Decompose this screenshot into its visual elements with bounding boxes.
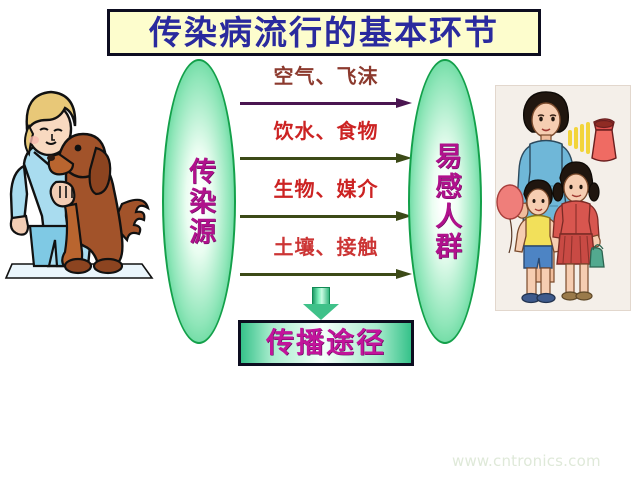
transmission-route-row-0[interactable]: 空气、飞沫 xyxy=(238,68,414,120)
slide-title-text: 传染病流行的基本环节 xyxy=(149,16,499,49)
transmission-route-label-3: 土壤、接触 xyxy=(238,236,414,258)
handbag-icon xyxy=(590,248,604,267)
node-population-label: 易感人群 xyxy=(431,142,460,262)
node-susceptible-population[interactable]: 易感人群 xyxy=(408,59,482,344)
illustration-nurse-and-dog xyxy=(4,86,154,282)
transmission-route-row-1[interactable]: 饮水、食物 xyxy=(238,123,414,175)
family-svg xyxy=(496,86,630,310)
balloon-icon xyxy=(497,185,523,219)
node-route-label: 传播途径 xyxy=(266,329,386,357)
transmission-route-row-2[interactable]: 生物、媒介 xyxy=(238,181,414,233)
transmission-route-label-2: 生物、媒介 xyxy=(238,178,414,200)
slide-canvas: 传染病流行的基本环节 xyxy=(0,0,640,480)
transmission-route-label-1: 饮水、食物 xyxy=(238,120,414,142)
node-transmission-route[interactable]: 传播途径 xyxy=(238,320,414,366)
transmission-route-row-3[interactable]: 土壤、接触 xyxy=(238,239,414,291)
node-source-label: 传染源 xyxy=(185,157,214,247)
transmission-arrow-1 xyxy=(240,153,414,163)
nurse-dog-svg xyxy=(4,86,154,282)
transmission-arrow-2 xyxy=(240,211,414,221)
transmission-arrow-3 xyxy=(240,269,414,279)
slide-title-box: 传染病流行的基本环节 xyxy=(107,9,541,56)
node-source-of-infection[interactable]: 传染源 xyxy=(162,59,236,344)
transmission-route-label-0: 空气、飞沫 xyxy=(238,65,414,87)
illustration-family-and-loudspeaker xyxy=(495,85,631,311)
loudspeaker-icon xyxy=(592,119,616,161)
down-arrow-icon xyxy=(303,287,339,320)
transmission-arrow-0 xyxy=(240,98,414,108)
watermark: www.cntronics.com xyxy=(452,452,601,470)
